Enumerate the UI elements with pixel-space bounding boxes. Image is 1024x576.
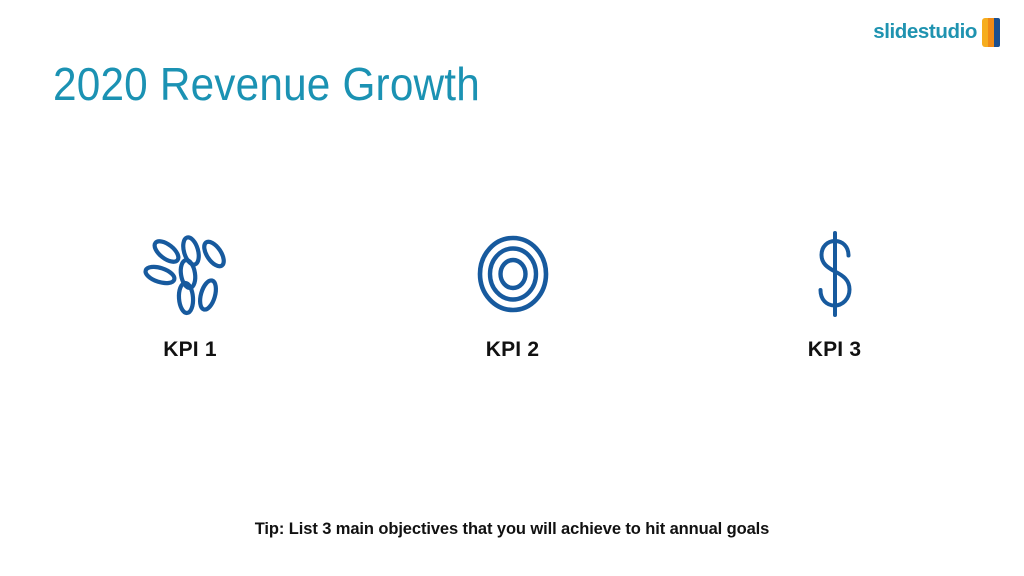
- target-icon: [473, 228, 553, 320]
- kpi-column-3: KPI 3: [645, 228, 1024, 362]
- brand-logo-text: slidestudio: [873, 22, 977, 43]
- kpi-label-2: KPI 2: [486, 338, 540, 362]
- page-title: 2020 Revenue Growth: [53, 58, 480, 111]
- kpi-column-1: KPI 1: [0, 228, 380, 362]
- logo-bar-blue: [994, 18, 1000, 47]
- kpi-row: KPI 1 KPI 2: [0, 228, 1024, 362]
- tip-text: Tip: List 3 main objectives that you wil…: [0, 520, 1024, 539]
- kpi-label-1: KPI 1: [163, 338, 217, 362]
- slide-canvas: slidestudio 2020 Revenue Growth: [0, 0, 1024, 576]
- kpi-label-3: KPI 3: [808, 338, 862, 362]
- tip-body: List 3 main objectives that you will ach…: [284, 520, 769, 538]
- brand-logo: slidestudio: [873, 16, 1000, 48]
- dollar-sign-icon: [806, 228, 864, 320]
- seeds-icon: [142, 228, 238, 320]
- kpi-column-2: KPI 2: [380, 228, 645, 362]
- tip-label: Tip:: [255, 520, 285, 538]
- brand-logo-mark-icon: [982, 18, 1000, 47]
